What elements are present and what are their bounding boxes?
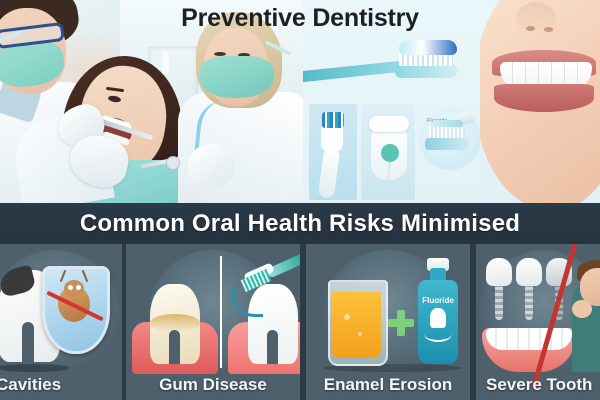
risk-card-label: Gum Disease xyxy=(126,375,300,395)
dental-mirror-head xyxy=(166,156,180,170)
toothbrush-head xyxy=(425,138,469,150)
mouthwash-label: Fluoride xyxy=(418,296,458,305)
healthy-smile-photo xyxy=(480,0,600,203)
preventive-dentistry-poster: Fluoride Preventive Dentistry xyxy=(0,0,600,400)
bacteria-head xyxy=(64,280,84,297)
smile-lower-lip xyxy=(494,84,594,112)
bacteria-eye-right xyxy=(76,285,81,290)
risk-card-cavities[interactable]: Cavities xyxy=(0,244,122,400)
clinic-bottle xyxy=(162,52,169,74)
toothbrush-thumbnail xyxy=(309,104,357,200)
risk-card-enamel-erosion[interactable]: Fluoride Enamel Erosion xyxy=(306,244,470,400)
smile-nostril-left xyxy=(526,26,535,31)
dental-implant-crown xyxy=(486,258,512,286)
risk-card-gum-disease[interactable]: Gum Disease xyxy=(126,244,300,400)
juice-bubble xyxy=(358,332,362,336)
oral-care-products-panel: Fluoride xyxy=(303,0,480,203)
mouthwash-tooth-icon xyxy=(430,308,446,328)
smile-nostril-right xyxy=(544,27,553,32)
plus-sign-icon xyxy=(388,310,414,336)
risks-banner: Common Oral Health Risks Minimised xyxy=(0,203,600,244)
dental-floss-thumbnail xyxy=(361,104,415,200)
toothbrush-with-toothpaste-icon xyxy=(303,42,471,94)
risk-card-label: Enamel Erosion xyxy=(306,375,470,395)
product-thumbnail-row: Fluoride xyxy=(309,104,479,200)
clinic-bottle-secondary xyxy=(174,56,180,74)
toothpaste-strip xyxy=(399,40,457,55)
implant-screw xyxy=(525,284,533,320)
assistant-face-mask xyxy=(200,56,274,98)
mouthwash-smile-icon xyxy=(424,326,452,342)
toothbrush-handle xyxy=(318,147,341,199)
toothbrush-bristles xyxy=(322,112,344,128)
risk-card-severe-tooth-loss[interactable]: Severe Tooth xyxy=(476,244,600,400)
floss-label-dot xyxy=(381,144,399,162)
fluoride-toothpaste-thumbnail: Fluoride xyxy=(419,108,480,170)
risk-card-label: Severe Tooth xyxy=(476,375,600,395)
juice-bubble xyxy=(344,314,350,320)
top-section: Fluoride Preventive Dentistry xyxy=(0,0,600,203)
floss-lid xyxy=(369,116,409,132)
bacteria-eye-left xyxy=(68,285,73,290)
orange-juice xyxy=(331,292,381,358)
denture-teeth xyxy=(486,328,572,350)
dental-checkup-photo xyxy=(0,0,303,203)
banner-title: Common Oral Health Risks Minimised xyxy=(80,210,520,238)
risk-card-label: Cavities xyxy=(0,375,122,395)
risk-cards-row: Cavities Gum Disease xyxy=(0,244,600,400)
patient-figure-hand xyxy=(572,300,592,318)
plaque-stain xyxy=(150,314,200,332)
toothbrush-head xyxy=(395,64,457,78)
implant-screw xyxy=(495,284,503,320)
comparison-divider xyxy=(220,256,222,368)
dental-implant-crown xyxy=(516,258,542,286)
